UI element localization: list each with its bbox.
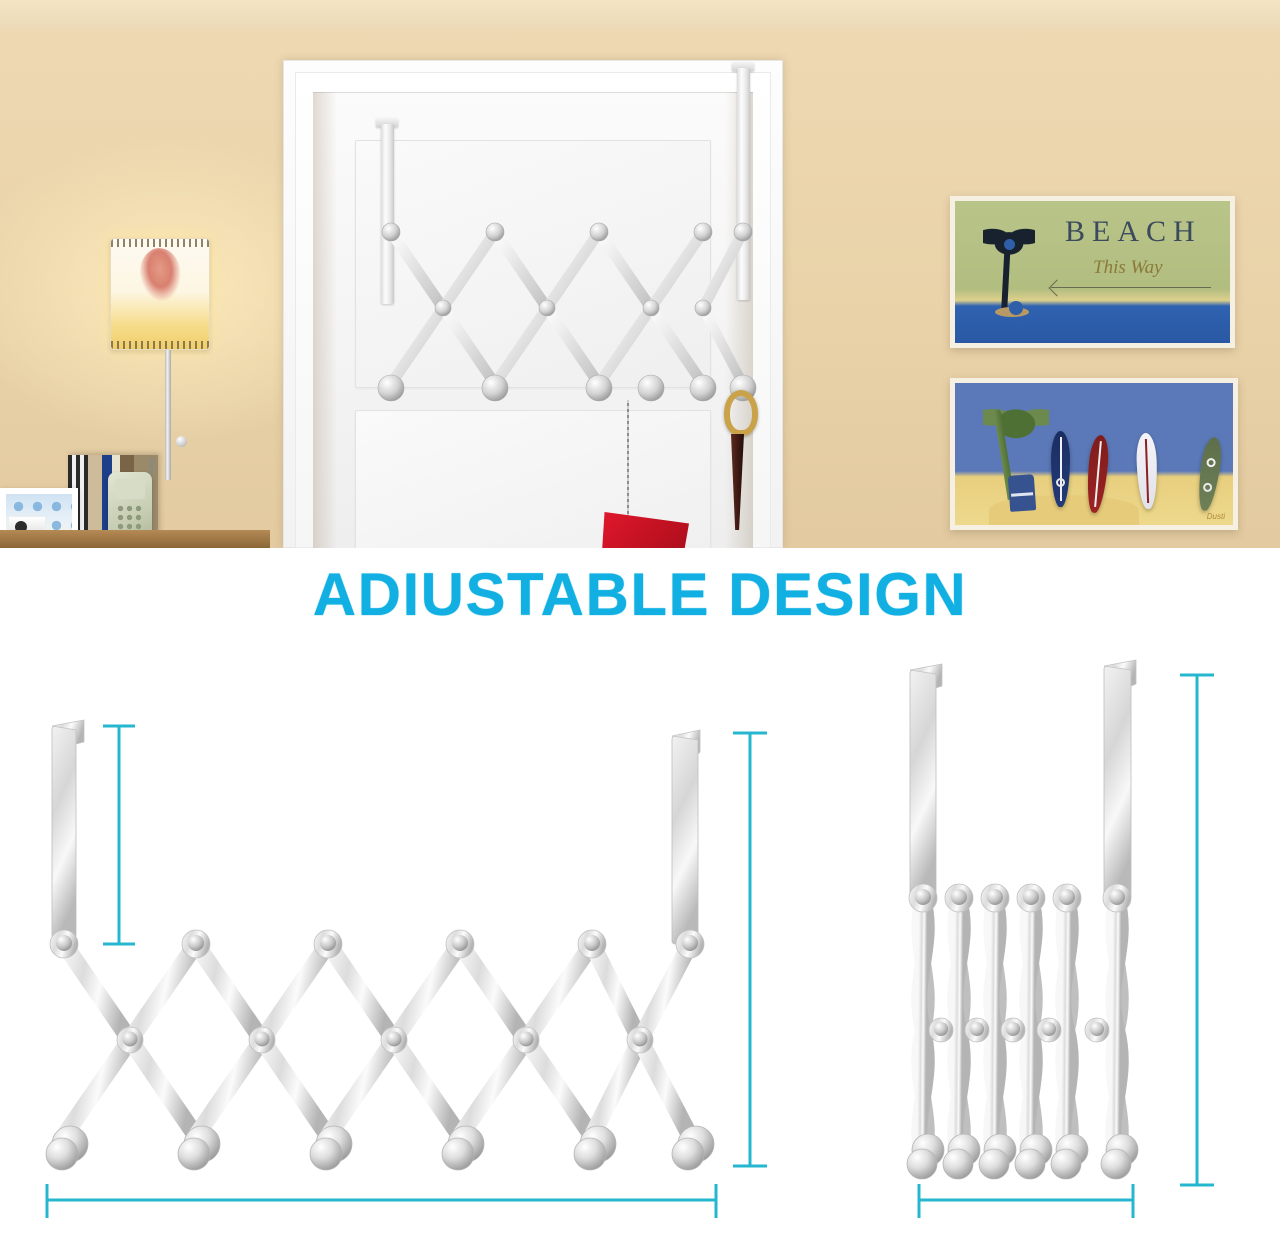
- left-room-scene: [0, 200, 270, 548]
- hanger-arm-left-collapsed: [910, 664, 942, 898]
- belt-gold-ring: [724, 390, 758, 436]
- dimension-10in: [1180, 675, 1214, 1185]
- accordion-lattice-installed: [379, 120, 759, 440]
- shade-lace-top: [111, 239, 209, 247]
- hook-knobs: [46, 1126, 714, 1170]
- hanger-arm-left: [52, 720, 84, 938]
- shade-lace-bottom: [111, 341, 209, 349]
- lamp-shade: [110, 238, 210, 350]
- moon-icon: [1063, 395, 1097, 429]
- beach-chair-icon: [1008, 474, 1036, 512]
- hanger-arm-right-collapsed: [1104, 660, 1136, 900]
- dimension-diagrams: 5in 7.48in 22in 10in 4.72in: [0, 648, 1280, 1250]
- surfer-print: [138, 246, 184, 303]
- artist-signature: Dusti: [1207, 512, 1225, 521]
- beach-ball-icon: [1009, 301, 1023, 315]
- door-assembly: [283, 60, 783, 548]
- surfboard-stripe: [1094, 441, 1102, 506]
- diagram-canvas: [0, 648, 1280, 1250]
- table-surface: [0, 530, 270, 548]
- lifestyle-photo: BEACH This Way: [0, 0, 1280, 548]
- surfboard-emblem: [1203, 482, 1213, 492]
- surfboard-stripe: [1145, 439, 1149, 503]
- surfboard-emblem: [1206, 457, 1216, 467]
- surfboard-white: [1136, 433, 1159, 510]
- beach-sign-title: BEACH: [1065, 215, 1202, 249]
- handbag-chain: [627, 400, 629, 520]
- collapsed-rivets-top: [909, 884, 1131, 912]
- collapsed-rack-diagram: [907, 660, 1214, 1218]
- door-shadow-left: [313, 92, 337, 548]
- lamp-pole: [165, 350, 171, 480]
- page-title: ADIUSTABLE DESIGN: [0, 560, 1280, 629]
- hanger-arm-right: [672, 730, 700, 944]
- left-arrow-icon: [1051, 287, 1211, 288]
- surfboard-emblem: [1056, 478, 1065, 487]
- surfboards-artwork: Dusti: [950, 378, 1238, 530]
- dimension-4_72in: [919, 1184, 1133, 1218]
- beach-sign-subtitle: This Way: [1093, 257, 1163, 279]
- ceiling-strip: [0, 0, 1280, 30]
- lattice-rivets-middle: [117, 1027, 653, 1053]
- expanded-lattice: [64, 944, 690, 1136]
- palm-fronds-icon: [983, 399, 1049, 439]
- installed-hook-rack: [379, 120, 759, 440]
- product-infographic: BEACH This Way: [0, 0, 1280, 1250]
- surfboard-green: [1195, 436, 1224, 512]
- dimension-22in: [47, 1184, 716, 1218]
- dimension-5in: [103, 726, 135, 944]
- lamp-switch-knob: [176, 436, 187, 447]
- surfboard-stripe: [1060, 437, 1062, 501]
- expanded-rack-diagram: [46, 720, 767, 1218]
- phone-screen: [115, 479, 145, 499]
- collapsed-hook-knobs: [907, 1134, 1138, 1179]
- coconut-icon: [1004, 239, 1015, 250]
- beach-sign-artwork: BEACH This Way: [950, 196, 1235, 348]
- dimension-7_48in: [733, 733, 767, 1166]
